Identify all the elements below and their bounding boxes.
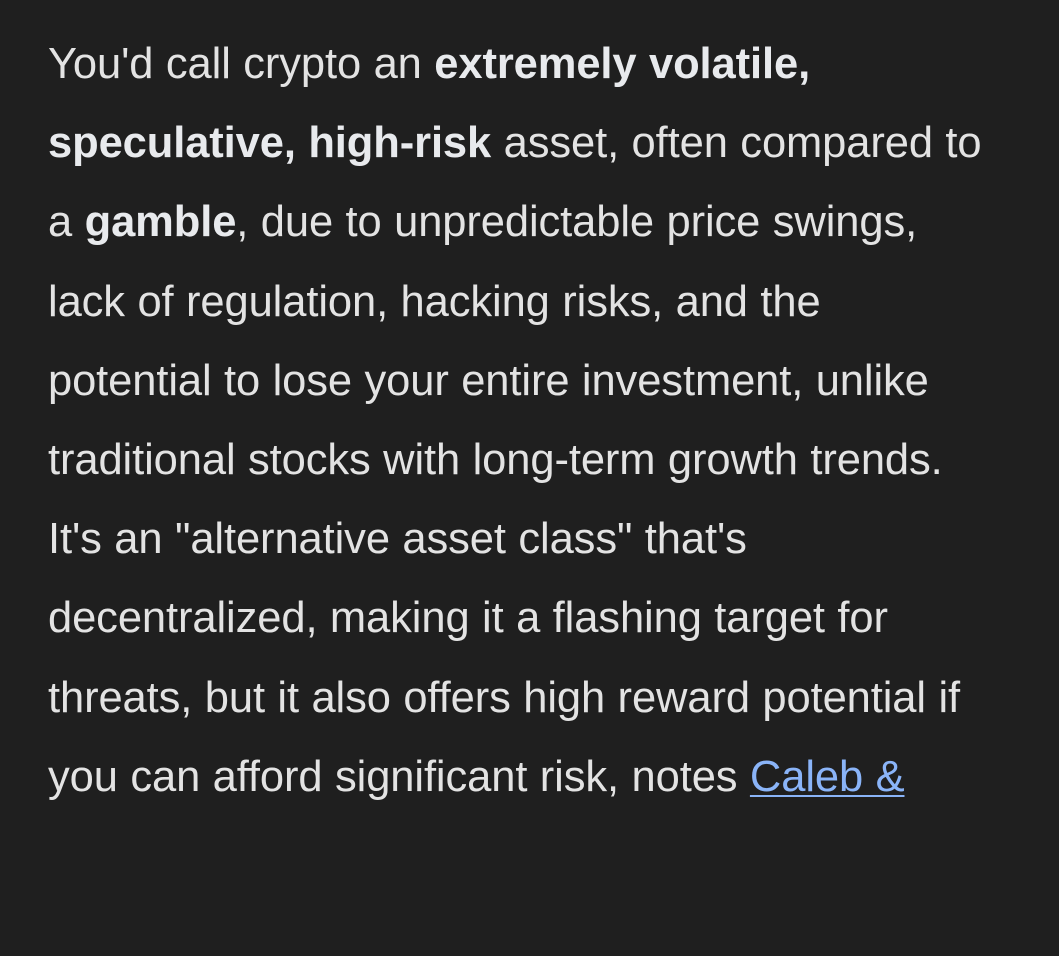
source-citation-link[interactable]: Caleb & <box>750 753 905 801</box>
answer-text-part-1: You'd call crypto an <box>48 40 434 88</box>
answer-text-part-3: , due to unpredictable price swings, lac… <box>48 198 960 800</box>
answer-emphasis-gamble: gamble <box>85 198 237 246</box>
answer-panel: You'd call crypto an extremely volatile,… <box>0 0 1059 956</box>
answer-paragraph: You'd call crypto an extremely volatile,… <box>48 25 985 817</box>
